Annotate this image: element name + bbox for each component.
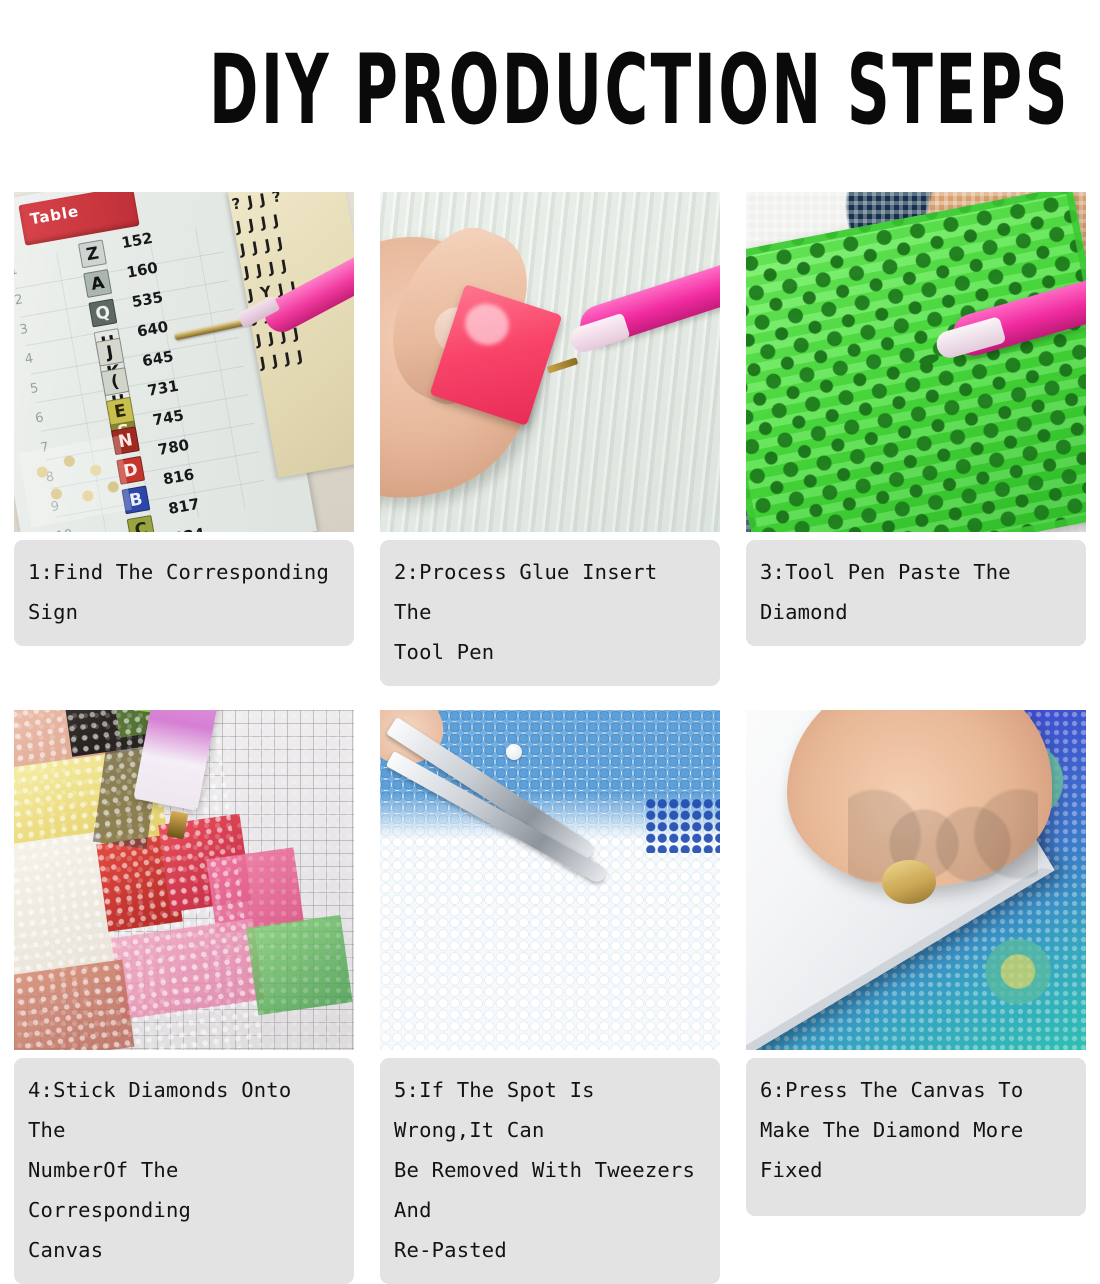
chart-code-cell: 816	[161, 459, 197, 494]
step-image-4	[14, 710, 354, 1050]
step-image-2	[380, 192, 720, 532]
steps-grid: 123456 789101112 Z A Q H K U S J ( E N D…	[14, 192, 1086, 1284]
step-card-5: 5:If The Spot Is Wrong,It Can Be Removed…	[380, 710, 720, 1284]
step-image-1: 123456 789101112 Z A Q H K U S J ( E N D…	[14, 192, 354, 532]
chart-code-cell: 817	[166, 489, 202, 524]
step-image-6	[746, 710, 1086, 1050]
chart-code-cell: 160	[124, 252, 160, 287]
canvas-motif-lower	[977, 934, 1059, 1009]
step-card-4: 4:Stick Diamonds Onto The NumberOf The C…	[14, 710, 354, 1284]
drill-pen-ferrule	[568, 313, 631, 356]
page-title: DIY PRODUCTION STEPS	[209, 36, 891, 144]
step-image-3	[746, 192, 1086, 532]
chart-symbol-cell: (	[101, 367, 130, 396]
chart-symbol-cell: Q	[88, 298, 117, 327]
chart-symbol-cell: Z	[78, 239, 107, 268]
chart-code-cell: 780	[155, 429, 191, 464]
step-caption-2: 2:Process Glue Insert The Tool Pen	[380, 540, 720, 686]
chart-code-cell: 640	[135, 311, 171, 346]
dark-blue-drill-region	[645, 798, 720, 852]
step-card-2: 2:Process Glue Insert The Tool Pen	[380, 192, 720, 686]
chart-symbol-cell: E	[106, 397, 135, 426]
step-card-1: 123456 789101112 Z A Q H K U S J ( E N D…	[14, 192, 354, 686]
knuckles	[848, 785, 1038, 887]
tray-rim	[746, 192, 1086, 532]
removed-drill	[506, 744, 522, 760]
step-caption-5: 5:If The Spot Is Wrong,It Can Be Removed…	[380, 1058, 720, 1284]
drill-pen-tip	[546, 357, 577, 373]
ring	[882, 860, 936, 904]
step-image-5	[380, 710, 720, 1050]
step-caption-3: 3:Tool Pen Paste The Diamond	[746, 540, 1086, 646]
step-card-6: 6:Press The Canvas To Make The Diamond M…	[746, 710, 1086, 1284]
step-caption-4: 4:Stick Diamonds Onto The NumberOf The C…	[14, 1058, 354, 1284]
step-caption-6: 6:Press The Canvas To Make The Diamond M…	[746, 1058, 1086, 1216]
chart-symbol-cell: J	[95, 338, 124, 367]
chart-code-cell: 535	[129, 282, 165, 317]
step-caption-1: 1:Find The Corresponding Sign	[14, 540, 354, 646]
step-card-3: 3:Tool Pen Paste The Diamond	[746, 192, 1086, 686]
chart-symbol-cell: A	[83, 269, 112, 298]
chart-symbol-cell: C	[127, 515, 156, 532]
